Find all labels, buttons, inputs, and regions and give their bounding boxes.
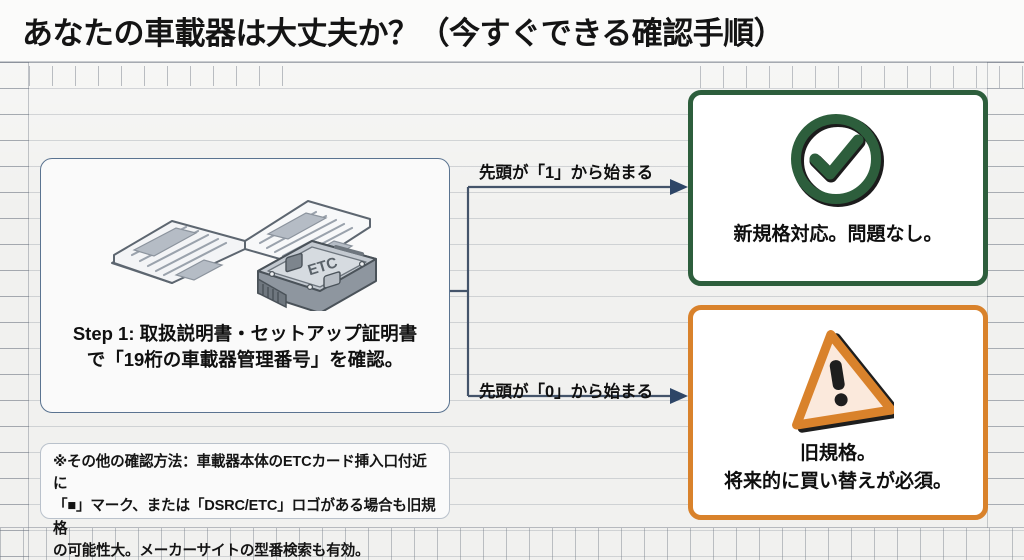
outcome-card-new-standard[interactable]: 新規格対応。問題なし。 [688,90,988,286]
outcome-text-new-standard: 新規格対応。問題なし。 [701,221,975,249]
tick-marks-top-right [700,66,1024,88]
note-line3: の可能性大。メーカーサイトの型番検索も有効。 [53,540,437,560]
other-check-methods-note: ※その他の確認方法：車載器本体のETCカード挿入口付近に 「■」マーク、または「… [40,443,450,519]
check-circle-icon [786,109,890,213]
outcome-text-old-standard: 旧規格。 将来的に買い替えが必須。 [701,440,975,495]
branch-label-starts-with-0: 先頭が「0」から始まる [479,378,653,402]
manual-and-etc-device-illustration: ETC [100,171,390,311]
page-title: あなたの車載器は大丈夫か？（今すぐできる確認手順） [22,8,784,53]
grid-right-margin [987,62,1024,528]
branch-label-starts-with-1: 先頭が「1」から始まる [479,159,653,183]
note-line2: 「■」マーク、または「DSRC/ETC」ロゴがある場合も旧規格 [53,495,437,539]
warning-triangle-icon [782,324,894,436]
outcome-old-line2: 将来的に買い替えが必須。 [701,468,975,496]
ruler-left-margin [0,62,29,560]
step1-caption-line2: で「19桁の車載器管理番号」を確認。 [51,347,439,373]
note-line1: ※その他の確認方法：車載器本体のETCカード挿入口付近に [53,451,437,495]
outcome-old-line1: 旧規格。 [701,440,975,468]
title-bar: あなたの車載器は大丈夫か？（今すぐできる確認手順） [0,0,1024,62]
outcome-ok-line1: 新規格対応。問題なし。 [701,221,975,249]
step1-card[interactable]: ETC Step 1: 取扱説明書・セットアップ証明書 で「19桁の車載器管理番… [40,158,450,413]
outcome-card-old-standard[interactable]: 旧規格。 将来的に買い替えが必須。 [688,305,988,520]
tick-marks-top-left [29,66,291,86]
divider-top [0,62,1024,63]
step1-caption: Step 1: 取扱説明書・セットアップ証明書 で「19桁の車載器管理番号」を確… [51,321,439,374]
step1-caption-line1: Step 1: 取扱説明書・セットアップ証明書 [51,321,439,347]
slide-canvas: あなたの車載器は大丈夫か？（今すぐできる確認手順） 先頭が「1」から始まる 先頭… [0,0,1024,560]
